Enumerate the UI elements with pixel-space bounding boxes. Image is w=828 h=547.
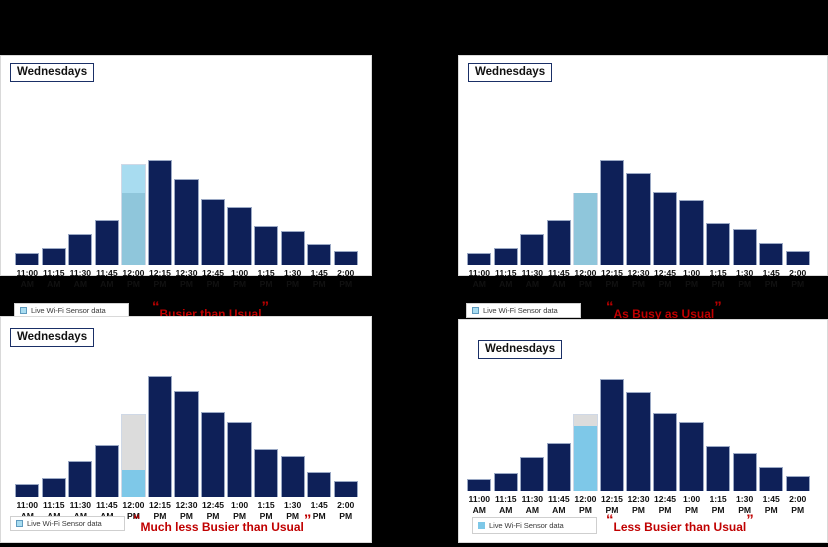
bar-typical	[281, 231, 305, 265]
bar-series	[14, 376, 359, 497]
bar-typical	[520, 457, 544, 491]
bar-typical	[201, 199, 225, 265]
bar-series	[466, 160, 811, 265]
annotation-text: “Less Busier than Usual”	[606, 518, 754, 536]
day-label-box: Wednesdays	[468, 63, 552, 82]
bar-typical	[733, 453, 757, 491]
bar-typical	[706, 223, 730, 265]
legend-label: Live Wi-Fi Sensor data	[27, 519, 102, 528]
bar-typical	[600, 160, 624, 265]
bar-typical	[95, 220, 119, 265]
bar-typical	[679, 200, 703, 265]
bar-typical	[227, 207, 251, 265]
tick-time: 2:00	[780, 268, 816, 279]
bar-typical	[281, 456, 305, 497]
bar-typical	[227, 422, 251, 497]
quote-close: ”	[714, 299, 722, 316]
bar-typical	[334, 481, 358, 497]
bar-typical	[42, 478, 66, 497]
bar-typical	[68, 234, 92, 266]
bar-typical	[254, 226, 278, 265]
bar-typical	[786, 476, 810, 491]
bar-typical	[201, 412, 225, 497]
day-label: Wednesdays	[17, 66, 87, 78]
quote-open: “	[606, 512, 614, 529]
x-axis-tick-label: 2:00PM	[780, 268, 816, 289]
bar-typical	[42, 248, 66, 265]
day-label-box: Wednesdays	[10, 63, 94, 82]
tick-time: 2:00	[780, 494, 816, 505]
day-label-box: Wednesdays	[478, 340, 562, 359]
tick-time: 2:00	[328, 500, 364, 511]
bar-typical	[600, 379, 624, 491]
bar-typical	[520, 234, 544, 266]
tick-ampm: PM	[328, 279, 364, 290]
bar-typical	[467, 253, 491, 265]
day-label: Wednesdays	[17, 331, 87, 343]
quote-open: “	[133, 512, 141, 529]
x-axis-tick-label: 2:00PM	[780, 494, 816, 515]
x-axis-tick-label: 2:00PM	[328, 268, 364, 289]
bar-typical	[679, 422, 703, 491]
legend-swatch-icon	[20, 307, 27, 314]
chart-panel-much-less-busier-than-usual: Wednesdays 11:00AM11:15AM11:30AM11:45AM1…	[0, 316, 372, 543]
legend-label: Live Wi-Fi Sensor data	[483, 306, 558, 315]
bar-typical	[254, 449, 278, 497]
bar-typical	[786, 251, 810, 265]
quote-open: “	[152, 299, 160, 316]
day-label: Wednesdays	[475, 66, 545, 78]
quote-close: ”	[746, 512, 754, 529]
bar-typical	[95, 445, 119, 497]
quote-open: “	[606, 299, 614, 316]
bar-typical	[307, 472, 331, 497]
bar-highlighted-live	[121, 164, 145, 265]
bar-live-segment	[122, 193, 144, 265]
chart-legend[interactable]: Live Wi-Fi Sensor data	[466, 303, 581, 318]
legend-label: Live Wi-Fi Sensor data	[489, 521, 564, 530]
tick-ampm: PM	[780, 505, 816, 516]
annotation-label: Much less Busier than Usual	[141, 520, 304, 534]
legend-label: Live Wi-Fi Sensor data	[31, 306, 106, 315]
bar-typical	[547, 443, 571, 491]
tick-time: 2:00	[328, 268, 364, 279]
legend-swatch-icon	[16, 520, 23, 527]
tick-ampm: PM	[328, 511, 364, 522]
x-axis-labels: 11:00AM11:15AM11:30AM11:45AM12:00PM12:15…	[466, 494, 811, 518]
bar-live-segment	[122, 470, 144, 497]
chart-panel-busier-than-usual: Wednesdays 11:00AM11:15AM11:30AM11:45AM1…	[0, 55, 372, 276]
bar-typical	[494, 473, 518, 491]
bar-typical	[733, 229, 757, 265]
chart-panel-as-busy-as-usual: Wednesdays 11:00AM11:15AM11:30AM11:45AM1…	[458, 55, 828, 276]
x-axis-labels: 11:00AM11:15AM11:30AM11:45AM12:00PM12:15…	[14, 268, 359, 292]
bar-typical	[148, 160, 172, 265]
quote-close: ”	[304, 512, 312, 529]
chart-panel-less-busier-than-usual: Wednesdays 11:00AM11:15AM11:30AM11:45AM1…	[458, 319, 828, 543]
x-axis-tick-label: 2:00PM	[328, 500, 364, 521]
bar-typical	[653, 413, 677, 491]
bar-series	[14, 160, 359, 265]
bar-highlighted-live	[121, 414, 145, 497]
bar-typical	[494, 248, 518, 265]
x-axis-labels: 11:00AM11:15AM11:30AM11:45AM12:00PM12:15…	[466, 268, 811, 292]
bar-typical	[706, 446, 730, 491]
bar-typical	[174, 179, 198, 265]
bar-series	[466, 379, 811, 491]
bar-typical	[759, 467, 783, 491]
bar-typical	[759, 243, 783, 265]
bar-typical	[626, 392, 650, 491]
bar-highlighted-live	[573, 193, 597, 265]
bar-typical	[334, 251, 358, 265]
day-label: Wednesdays	[485, 343, 555, 355]
chart-legend[interactable]: Live Wi-Fi Sensor data	[10, 516, 125, 531]
bar-typical	[467, 479, 491, 491]
bar-typical	[626, 173, 650, 265]
bar-typical	[307, 244, 331, 265]
bar-highlighted-live	[573, 414, 597, 491]
legend-swatch-icon	[478, 522, 485, 529]
bar-live-segment	[574, 426, 596, 491]
bar-typical	[15, 253, 39, 265]
legend-swatch-icon	[472, 307, 479, 314]
bar-typical	[68, 461, 92, 497]
bar-typical	[148, 376, 172, 497]
bar-typical	[174, 391, 198, 497]
tick-ampm: PM	[780, 279, 816, 290]
bar-live-segment	[574, 193, 596, 265]
annotation-label: Less Busier than Usual	[614, 520, 747, 534]
chart-legend[interactable]: Live Wi-Fi Sensor data	[472, 517, 597, 534]
annotation-text: “Much less Busier than Usual”	[133, 518, 311, 536]
day-label-box: Wednesdays	[10, 328, 94, 347]
bar-typical	[15, 484, 39, 497]
quote-close: ”	[262, 299, 270, 316]
bar-typical	[547, 220, 571, 265]
bar-typical	[653, 192, 677, 266]
